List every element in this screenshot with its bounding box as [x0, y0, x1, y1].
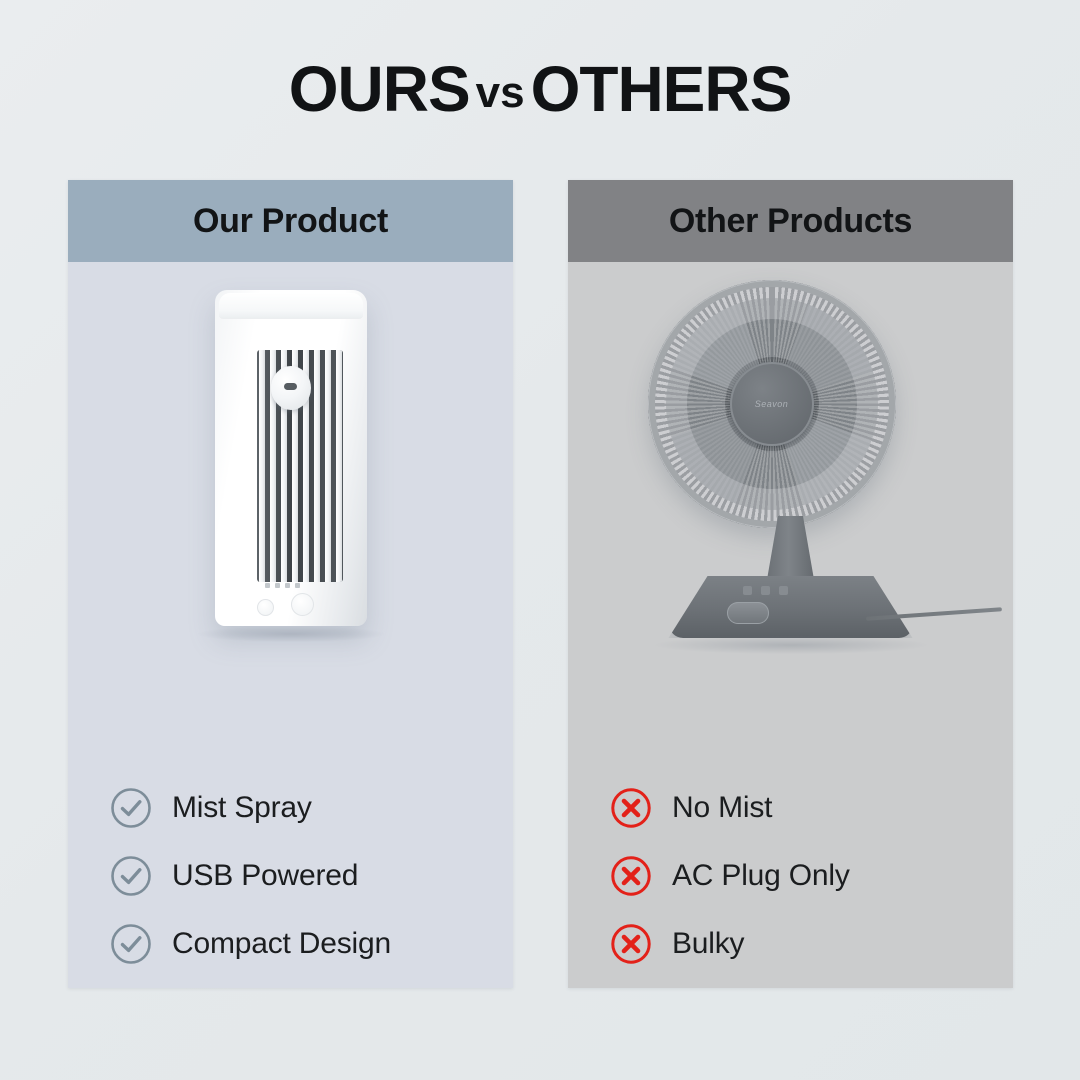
check-circle-icon: [110, 923, 152, 965]
feature-label: AC Plug Only: [672, 859, 850, 893]
feature-label: USB Powered: [172, 859, 358, 893]
column-header-others-label: Other Products: [669, 202, 912, 241]
comparison-column-others: Other Products Seavon: [568, 180, 1013, 988]
grey-desk-fan-image: Seavon: [626, 280, 956, 660]
tower-fan-mist-button: [257, 599, 274, 616]
cross-circle-icon: [610, 923, 652, 965]
feature-label: Bulky: [672, 927, 744, 961]
tower-fan-control-buttons: [257, 593, 314, 616]
list-item: USB Powered: [110, 842, 490, 910]
desk-fan-mode-buttons: [743, 586, 788, 595]
list-item: Compact Design: [110, 910, 490, 978]
tower-fan-led-indicators: [265, 583, 300, 588]
list-item: Bulky: [610, 910, 990, 978]
column-header-others: Other Products: [568, 180, 1013, 262]
column-header-ours: Our Product: [68, 180, 513, 262]
white-tower-fan-image: [215, 290, 367, 626]
comparison-column-ours: Our Product: [68, 180, 513, 988]
list-item: Mist Spray: [110, 774, 490, 842]
feature-label: No Mist: [672, 791, 772, 825]
tower-fan-power-button: [291, 593, 314, 616]
cross-circle-icon: [610, 855, 652, 897]
feature-label: Compact Design: [172, 927, 391, 961]
product-stage-ours: [68, 262, 513, 710]
column-body-ours: Mist Spray USB Powered Compact Design: [68, 262, 513, 988]
feature-label: Mist Spray: [172, 791, 312, 825]
list-item: No Mist: [610, 774, 990, 842]
desk-fan-speed-knob: [727, 602, 769, 624]
cross-circle-icon: [610, 787, 652, 829]
desk-fan-grille: Seavon: [648, 280, 896, 528]
title-word-vs: vs: [470, 68, 531, 117]
title-word-ours: OURS: [289, 53, 470, 125]
list-item: AC Plug Only: [610, 842, 990, 910]
desk-fan-shadow: [655, 636, 927, 654]
feature-list-ours: Mist Spray USB Powered Compact Design: [110, 774, 490, 978]
feature-list-others: No Mist AC Plug Only Bulky: [610, 774, 990, 978]
column-header-ours-label: Our Product: [193, 202, 388, 241]
column-body-others: Seavon No Mist: [568, 262, 1013, 988]
desk-fan-base: [669, 576, 913, 638]
tower-fan-top-cap: [219, 293, 363, 319]
check-circle-icon: [110, 787, 152, 829]
tower-fan-shadow: [197, 626, 385, 642]
desk-fan-hub-logo: Seavon: [755, 399, 789, 409]
tower-fan-mist-nozzle: [271, 366, 311, 410]
check-circle-icon: [110, 855, 152, 897]
desk-fan-hub: Seavon: [730, 362, 814, 446]
page-title: OURSvsOTHERS: [0, 52, 1080, 126]
product-stage-others: Seavon: [568, 262, 1013, 710]
title-word-others: OTHERS: [531, 53, 792, 125]
